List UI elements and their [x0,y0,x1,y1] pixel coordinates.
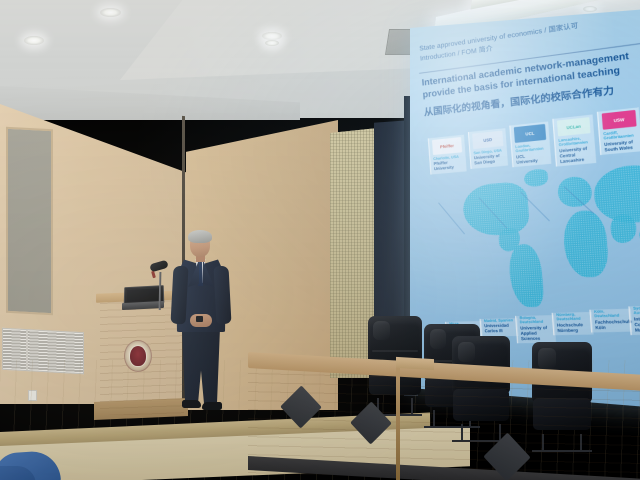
partner-logo-text: USW [613,117,624,124]
university-crest-icon [124,340,152,372]
wall-fabric-panel [6,127,53,316]
partner-card: Sydney, Australien International College… [628,305,640,335]
ceiling-downlight [100,8,121,17]
partner-card: USW Cardiff, Großbritannien University o… [597,107,640,155]
partner-card: UCLan Lancashire, Großbritannien Univers… [552,115,596,167]
table-joint [396,362,400,480]
speaker-trousers [182,328,220,404]
partner-card: Bologna, Deutschland University of Appli… [515,315,556,343]
chair-highlight [373,321,389,340]
partner-card: Pfeiffer Charlotte, USA Pfeiffer Univers… [428,135,467,175]
ceiling-downlight [262,32,282,40]
partner-card: UCL London, Großbritannien UCL Universit… [509,121,551,167]
presentation-clicker-icon [196,316,203,322]
partner-name: University of Central Lancashire [556,144,597,166]
partner-logo: USD [472,131,503,150]
ceiling-downlight [583,6,597,12]
partner-logo-text: Pfeiffer [440,143,454,149]
speaker-arm [213,266,231,325]
map-region-south-america [508,243,545,307]
partner-name: UCL University [513,151,552,167]
table-joint-cap [396,357,434,370]
partner-name: International College of Management [630,315,640,335]
partner-name: Pfeiffer University [431,158,467,174]
partner-card: Nürnberg, Deutschland Hochschule Nürnber… [552,312,594,335]
presidium-table [248,352,640,480]
partner-name: University of San Diego [471,152,508,168]
ceiling-downlight [24,36,44,45]
crest-emblem [130,346,146,366]
partner-card: Köln, Deutschland Fachhochschule Köln [589,309,632,333]
map-region-africa [562,209,610,278]
conference-hall-photo: State approved university of economics /… [0,0,640,480]
partner-logo-text: UCL [525,130,534,136]
partner-logo-text: USD [483,137,492,143]
laptop-screen [127,288,161,302]
partner-card: USD San Diego, USA University of San Die… [468,128,508,168]
partner-location: Sydney, Australien [630,305,640,316]
partner-logo: USW [602,110,637,130]
ceiling-downlight [265,40,279,46]
speaker-hair [188,230,212,243]
partner-logo: Pfeiffer [432,137,462,155]
partner-logo: UCLan [557,117,591,136]
speaker-person [168,232,234,414]
partner-name: University of Applied Sciences [517,324,556,343]
partner-logo-text: UCLan [566,123,581,130]
partner-logo: UCL [514,124,546,143]
partner-name: Universidad Carlos III [481,323,519,336]
partner-name: Hochschule Nürnberg [553,321,593,335]
partner-cards-top: Pfeiffer Charlotte, USA Pfeiffer Univers… [428,105,640,201]
speaker-arm [170,266,188,325]
partner-name: University of South Wales [600,138,640,155]
chair-highlight [430,329,447,349]
partner-card: Madrid, Spanien Universidad Carlos III [480,318,519,336]
partner-name: Fachhochschule Köln [591,318,632,332]
speaker-shoe [182,400,201,408]
speaker-shoe [202,402,222,410]
